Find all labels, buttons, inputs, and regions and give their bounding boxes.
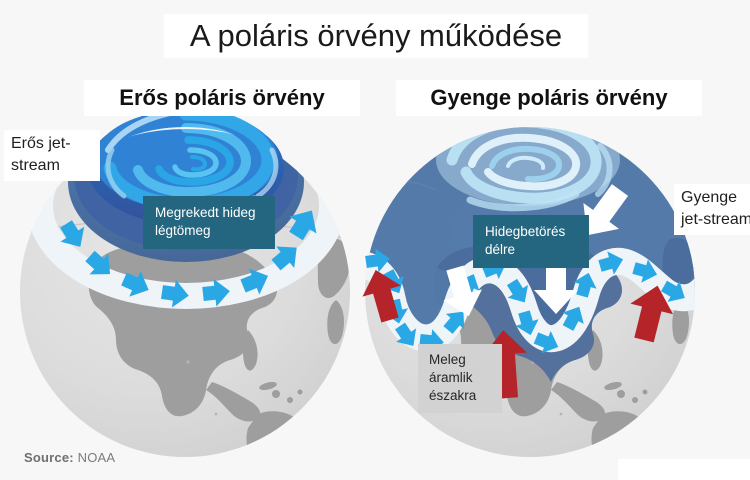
infographic-canvas	[0, 0, 750, 480]
panel-subtitle-weak-vortex: Gyenge poláris örvény	[396, 80, 702, 116]
callout-trapped-cold-air: Megrekedt hideg légtömeg	[143, 196, 275, 249]
label-weak-jet-stream: Gyenge jet-stream	[674, 184, 750, 235]
bottom-right-white-block	[618, 459, 750, 480]
callout-cold-outbreak-south: Hidegbetörés délre	[473, 215, 589, 268]
source-value: NOAA	[78, 450, 116, 465]
source-credit: Source: NOAA	[24, 450, 115, 465]
panel-subtitle-strong-vortex: Erős poláris örvény	[84, 80, 360, 116]
source-label: Source:	[24, 450, 74, 465]
globe-weak-vortex	[356, 110, 702, 473]
page-title: A poláris örvény működése	[164, 14, 588, 58]
callout-warm-flows-north: Meleg áramlik északra	[418, 344, 502, 413]
label-strong-jet-stream: Erős jet-stream	[4, 130, 100, 181]
